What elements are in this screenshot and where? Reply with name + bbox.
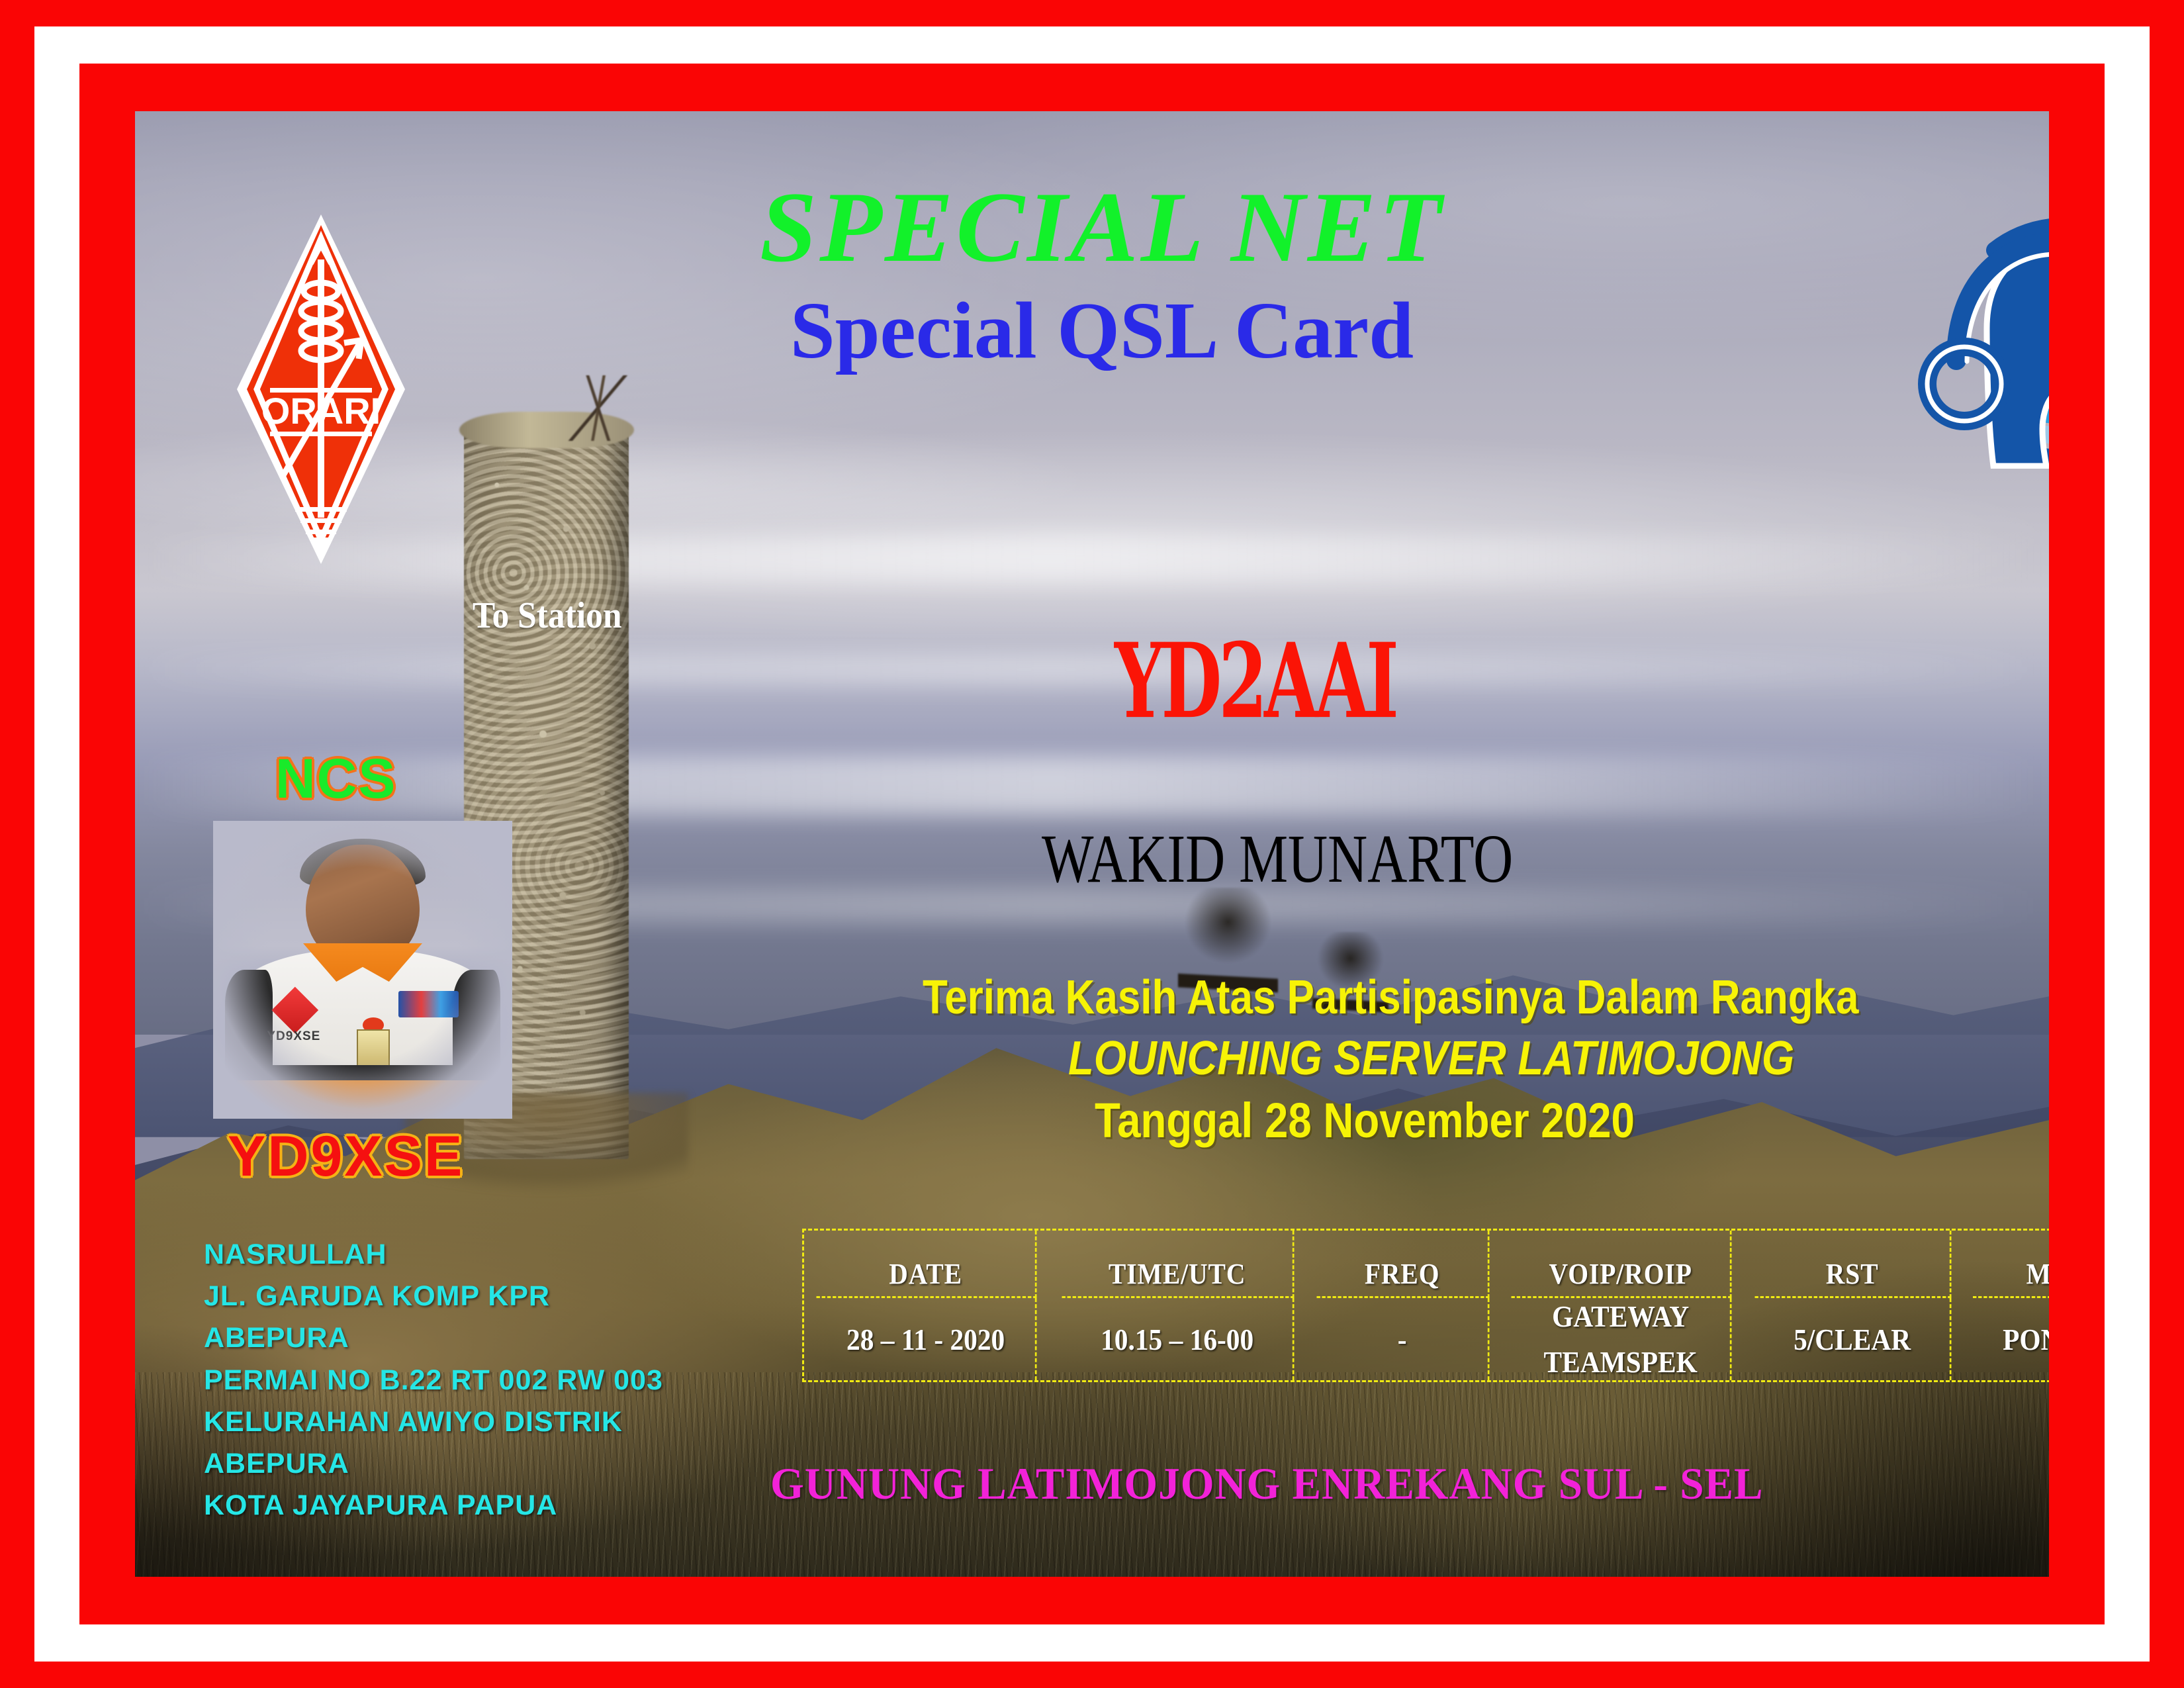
- table-cell-voip-roip-line2: TEAMSPEK: [1543, 1344, 1697, 1380]
- card-frame-red-inner: ORARI: [79, 64, 2105, 1624]
- to-station-label: To Station: [473, 594, 622, 637]
- orari-logo-text: ORARI: [261, 390, 381, 432]
- table-cell-date: 28 – 11 - 2020: [817, 1298, 1037, 1380]
- operator-name: WAKID MUNARTO: [1042, 820, 1513, 898]
- address-line: ABEPURA: [204, 1443, 663, 1485]
- operator-portrait: YD9XSE: [213, 821, 512, 1119]
- ncs-label: NCS: [275, 747, 396, 811]
- table-cell-voip-roip-line1: GATEWAY: [1552, 1299, 1689, 1334]
- table-cell-time: 10.15 – 16-00: [1062, 1298, 1295, 1380]
- address-block: NASRULLAH JL. GARUDA KOMP KPR ABEPURA PE…: [204, 1234, 663, 1526]
- address-line: NASRULLAH: [204, 1234, 663, 1276]
- address-line: ABEPURA: [204, 1317, 663, 1359]
- table-cell-freq: -: [1317, 1298, 1490, 1380]
- cloud-band: [135, 536, 2049, 583]
- card-frame-white: ORARI: [34, 26, 2150, 1662]
- table-cell-mode: PONE/CW: [1973, 1298, 2049, 1380]
- page-title: SPECIAL NET: [136, 169, 2049, 285]
- address-line: KOTA JAYAPURA PAPUA: [204, 1485, 663, 1526]
- address-line: JL. GARUDA KOMP KPR: [204, 1276, 663, 1317]
- address-line: KELURAHAN AWIYO DISTRIK: [204, 1401, 663, 1443]
- location-line: GUNUNG LATIMOJONG ENREKANG SUL - SEL: [770, 1458, 1764, 1510]
- event-name-line: LOUNCHING SERVER LATIMOJONG: [1068, 1031, 1794, 1086]
- qsl-card: ORARI: [0, 0, 2184, 1688]
- thanks-line-1: Terima Kasih Atas Partisipasinya Dalam R…: [923, 970, 1858, 1025]
- cloud-band: [135, 756, 2049, 815]
- table-header-freq: FREQ: [1317, 1231, 1490, 1298]
- table-header-mode: MODE: [1973, 1231, 2049, 1298]
- cloud-band: [135, 653, 2049, 686]
- card-background-photo: ORARI: [135, 111, 2049, 1577]
- station-callsign: YD2AAI: [1115, 621, 1396, 742]
- table-header-time: TIME/UTC: [1062, 1231, 1295, 1298]
- table-cell-rst: 5/CLEAR: [1755, 1298, 1952, 1380]
- event-date-line: Tanggal 28 November 2020: [1095, 1092, 1635, 1149]
- table-header-rst: RST: [1755, 1231, 1952, 1298]
- qso-log-table: DATE TIME/UTC FREQ VOIP/ROIP RST MODE 28…: [802, 1229, 2049, 1382]
- table-cell-voip-roip: GATEWAY TEAMSPEK: [1512, 1298, 1732, 1380]
- table-header-date: DATE: [817, 1231, 1037, 1298]
- address-line: PERMAI NO B.22 RT 002 RW 003: [204, 1360, 663, 1401]
- page-subtitle: Special QSL Card: [155, 285, 2049, 377]
- table-header-voip-roip: VOIP/ROIP: [1512, 1231, 1732, 1298]
- ncs-callsign: YD9XSE: [228, 1124, 464, 1190]
- cairn-twigs: [557, 375, 642, 442]
- portrait-vignette: [213, 821, 512, 1119]
